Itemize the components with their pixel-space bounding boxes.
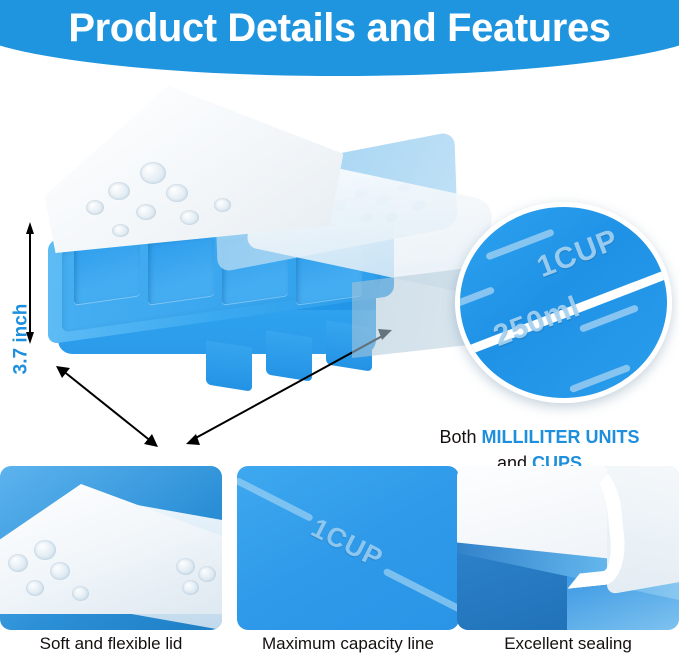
units-caption-highlight-ml: MILLILITER UNITS (482, 427, 640, 447)
magnifier-marking-ml: 250ml (489, 290, 585, 354)
feature-panel-maximum-capacity-line: 1CUP (237, 466, 459, 630)
units-caption-line1-prefix: Both (439, 427, 481, 447)
units-caption-line-1: Both MILLILITER UNITS (400, 424, 679, 450)
feature-caption-excellent-sealing: Excellent sealing (457, 634, 679, 654)
feature-panel-soft-flexible-lid (0, 466, 222, 630)
magnifier-circle: 1CUP 250ml (455, 202, 672, 403)
feature-caption-maximum-capacity-line: Maximum capacity line (237, 634, 459, 654)
feature-panels: 1CUP Soft and flexible lid Maximum capac… (0, 466, 679, 669)
feature-panel-excellent-sealing (457, 466, 679, 630)
product-hero-image: 3.7 inch 5.5 inch 9.8 inch 1CUP 250ml Bo… (0, 76, 679, 458)
page-title: Product Details and Features (0, 0, 679, 56)
dimension-label-height: 3.7 inch (10, 304, 32, 375)
feature-caption-soft-flexible-lid: Soft and flexible lid (0, 634, 222, 654)
